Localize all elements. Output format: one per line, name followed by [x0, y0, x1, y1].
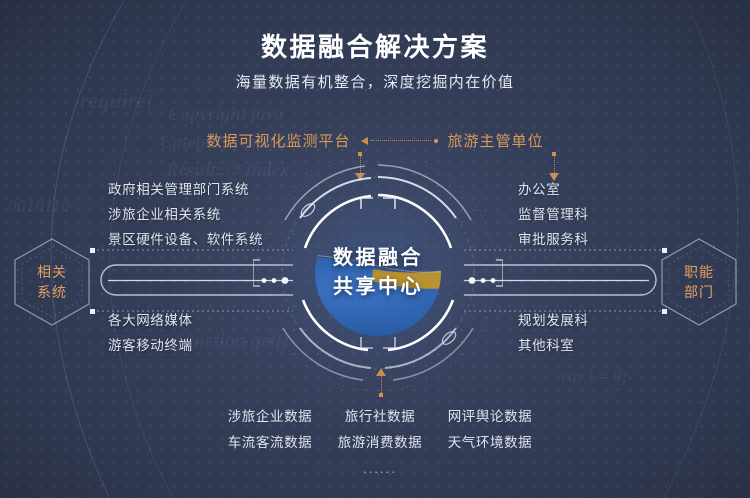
right-lower-list: 规划发展科 其他科室 — [518, 308, 589, 358]
grid-item: 车流客流数据 — [215, 431, 325, 451]
list-item: 景区硬件设备、软件系统 — [108, 227, 263, 252]
watermark-text: var i = 0; — [560, 366, 628, 387]
right-hexagon[interactable]: 职能 部门 — [657, 236, 741, 328]
left-hexagon-line1: 相关 — [37, 262, 67, 282]
list-item: 政府相关管理部门系统 — [108, 177, 263, 202]
list-item: 办公室 — [518, 177, 589, 202]
arrow-left-icon — [361, 137, 438, 145]
center-hud-rings — [253, 148, 503, 398]
grid-item: 旅行社数据 — [325, 405, 435, 425]
list-item: 监督管理科 — [518, 202, 589, 227]
bottom-ellipsis: ...... — [215, 461, 545, 476]
left-upper-list: 政府相关管理部门系统 涉旅企业相关系统 景区硬件设备、软件系统 — [108, 177, 263, 252]
left-hexagon[interactable]: 相关 系统 — [10, 236, 94, 328]
list-item: 审批服务科 — [518, 227, 589, 252]
left-lower-list: 各大网络媒体 游客移动终端 — [108, 308, 193, 358]
watermark-text: Copyright java — [168, 104, 284, 126]
list-item: 游客移动终端 — [108, 333, 193, 358]
grid-item: 天气环境数据 — [435, 431, 545, 451]
list-item: 涉旅企业相关系统 — [108, 202, 263, 227]
page-title: 数据融合解决方案 — [0, 27, 750, 64]
page-subtitle: 海量数据有机整合，深度挖掘内在价值 — [0, 71, 750, 92]
list-item: 其他科室 — [518, 333, 589, 358]
left-hexagon-text: 相关 系统 — [10, 236, 94, 328]
grid-item: 网评舆论数据 — [435, 405, 545, 425]
right-hexagon-line1: 职能 — [684, 262, 714, 282]
grid-item: 旅游消费数据 — [325, 431, 435, 451]
bottom-data-grid: 涉旅企业数据 旅行社数据 网评舆论数据 车流客流数据 旅游消费数据 天气环境数据 — [215, 405, 545, 451]
infographic-canvas: require( Copyright java Category: articl… — [0, 0, 750, 498]
right-upper-list: 办公室 监督管理科 审批服务科 — [518, 177, 589, 252]
right-hexagon-text: 职能 部门 — [657, 236, 741, 328]
right-hexagon-line2: 部门 — [684, 282, 714, 302]
list-item: 规划发展科 — [518, 308, 589, 333]
list-item: 各大网络媒体 — [108, 308, 193, 333]
left-hexagon-line2: 系统 — [37, 282, 67, 302]
grid-item: 涉旅企业数据 — [215, 405, 325, 425]
watermark-text: 0010110 — [8, 196, 70, 217]
